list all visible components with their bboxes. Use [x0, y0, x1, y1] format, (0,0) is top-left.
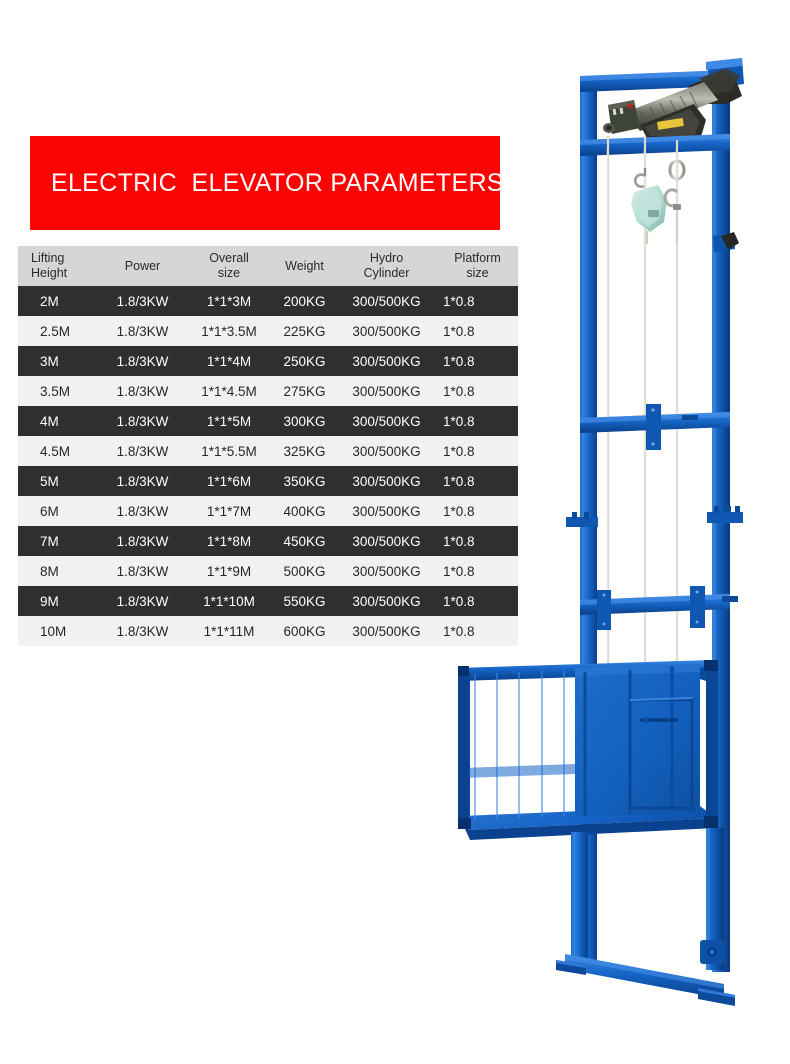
cage-corner-post-left: [458, 666, 469, 828]
mast-upper-crossbeam: [580, 134, 730, 156]
product-spec-page: ELECTRIC ELEVATOR PARAMETERS LiftingHeig…: [0, 0, 790, 1064]
lifting-hook: [665, 161, 684, 244]
cage-railing-bars: [478, 669, 567, 822]
base-connector: [700, 940, 724, 964]
mast-crossbeam-mid-1: [580, 404, 730, 450]
cage-back-panel: [575, 664, 700, 818]
platform-cage: [458, 660, 718, 840]
hoist-cable-highlights: [607, 150, 676, 660]
pulley-block: [631, 168, 667, 244]
cage-corner-post-right: [706, 660, 718, 828]
electric-elevator-illustration: [0, 0, 790, 1064]
